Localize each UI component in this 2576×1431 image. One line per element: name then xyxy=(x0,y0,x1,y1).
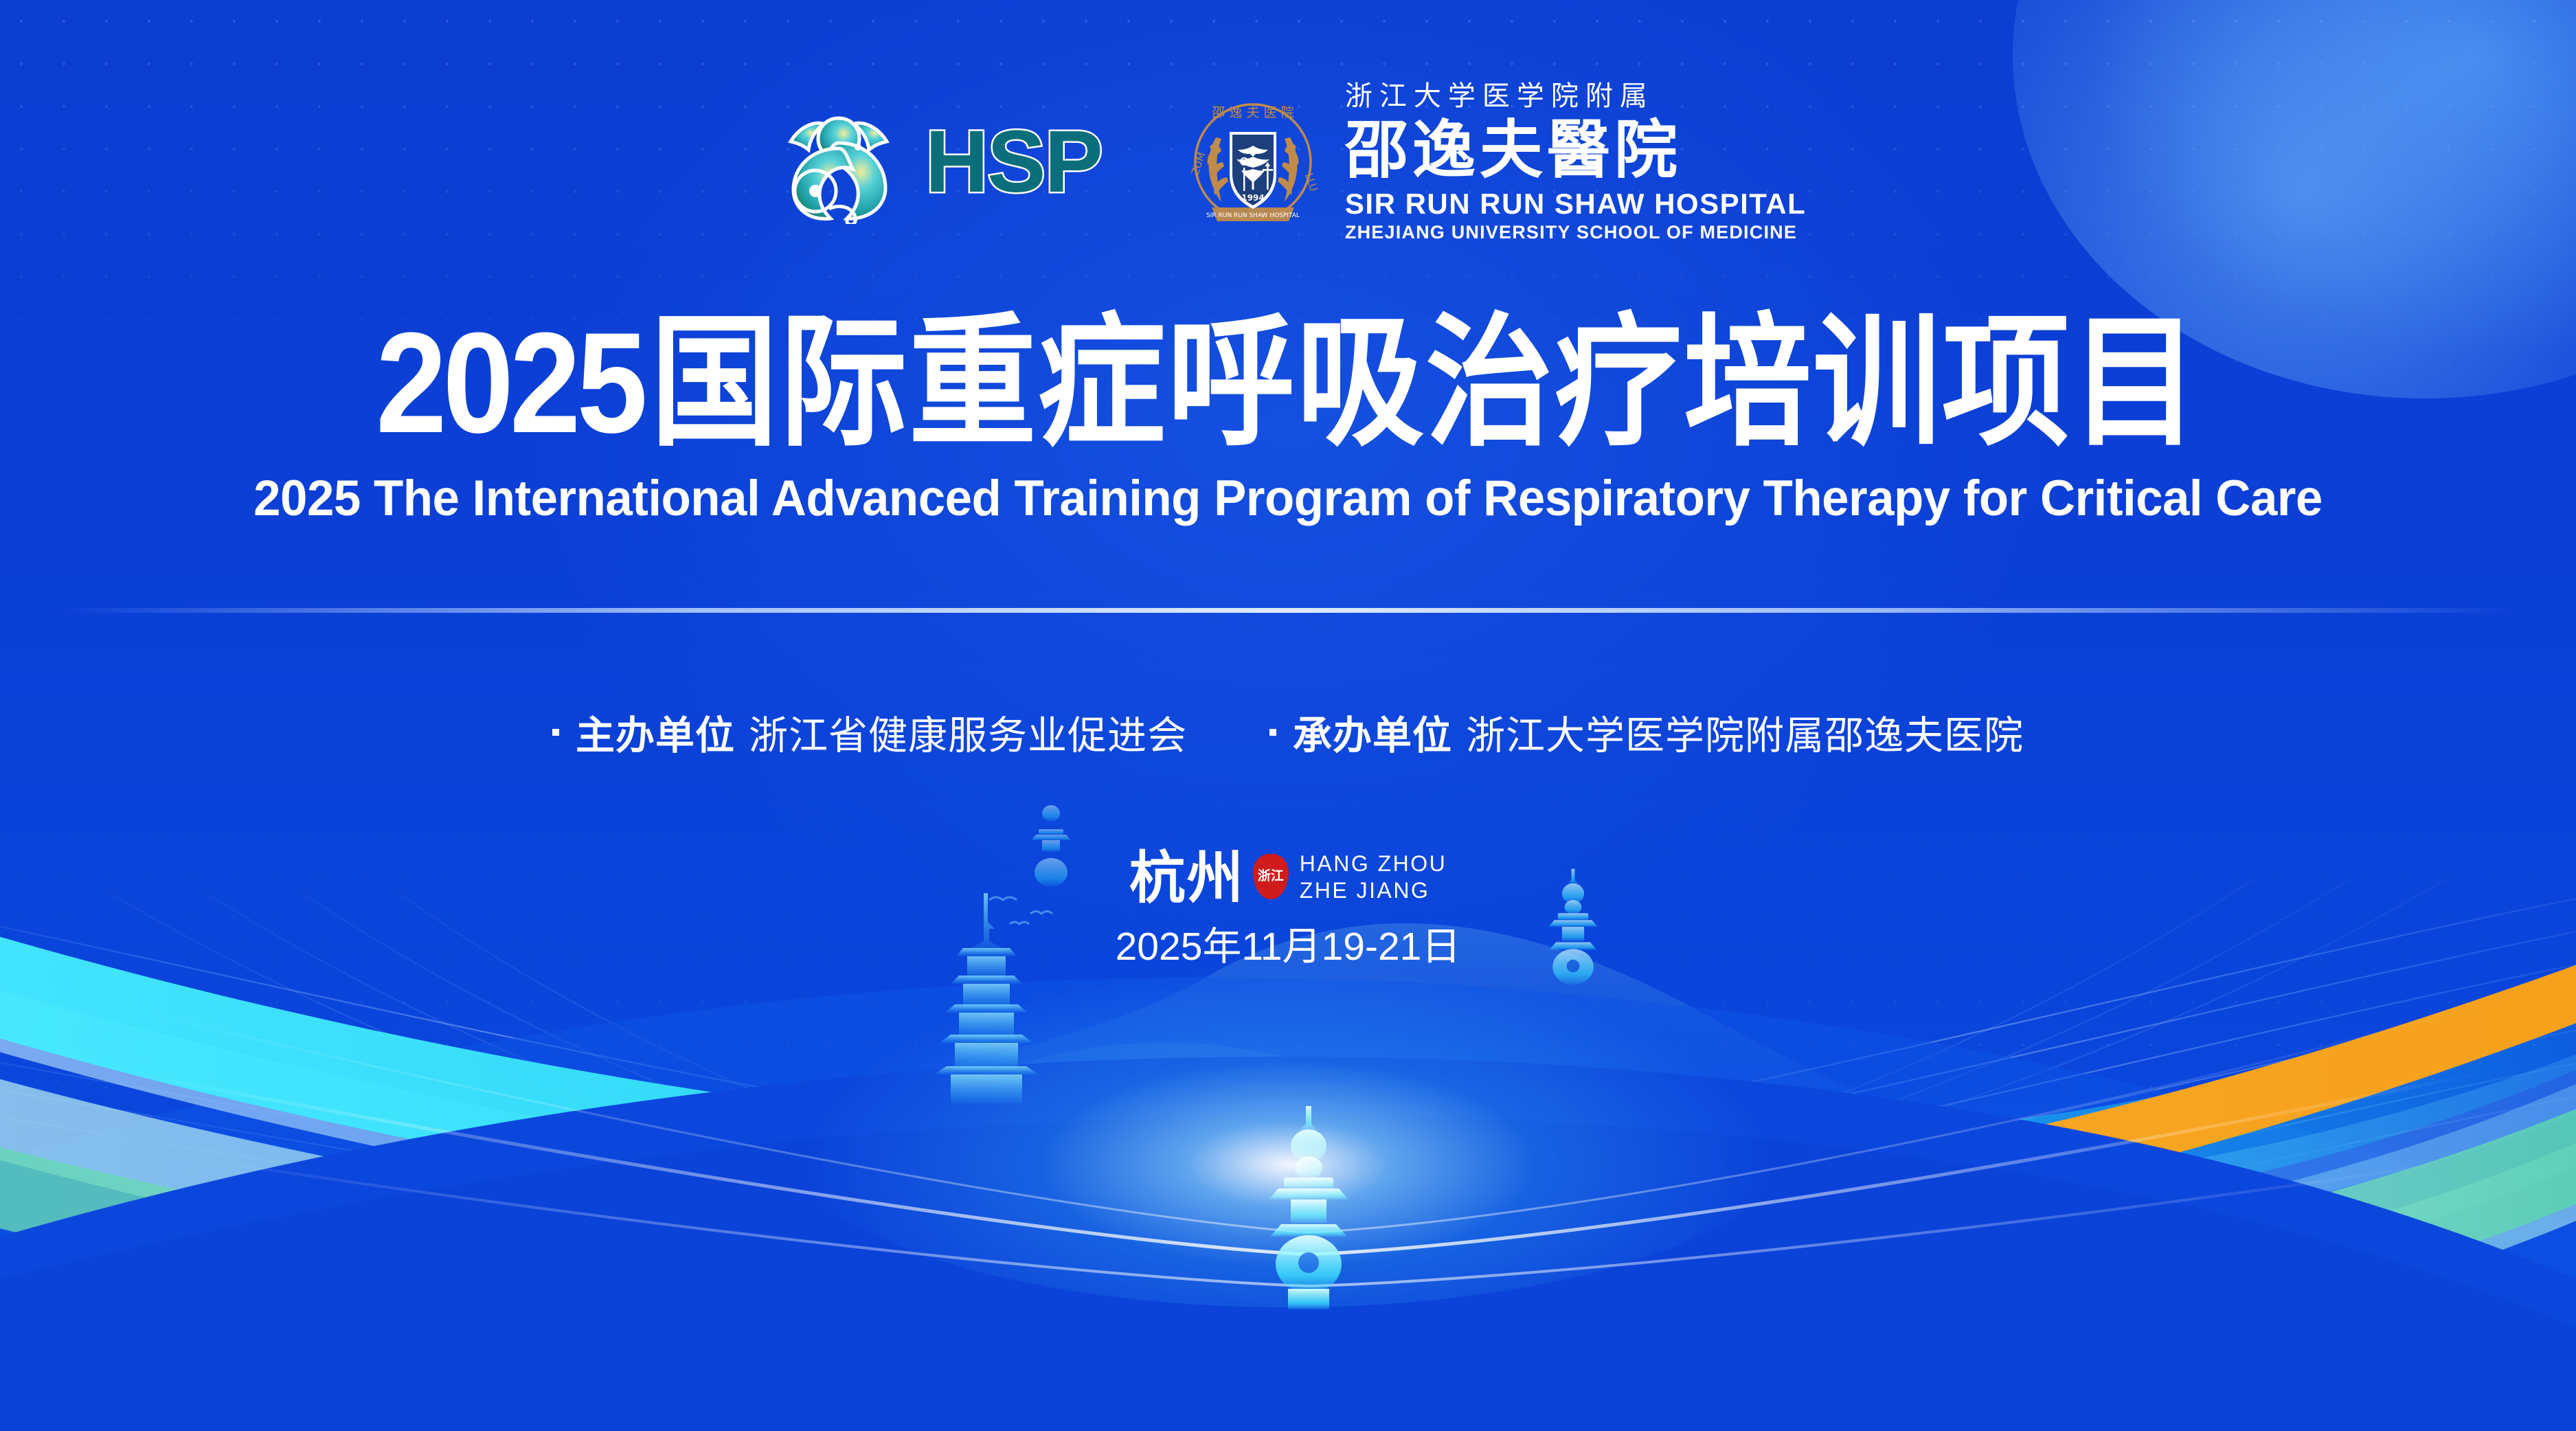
province-pinyin: ZHE JIANG xyxy=(1300,877,1447,904)
conference-banner: HSP 邵 逸 夫 医 院 ZUM LLU xyxy=(0,0,2576,1431)
hospital-name-block: 浙江大学医学院附属 邵逸夫醫院 SIR RUN RUN SHAW HOSPITA… xyxy=(1345,82,1806,242)
logo-row: HSP 邵 逸 夫 医 院 ZUM LLU xyxy=(0,82,2576,242)
hospital-logo: 邵 逸 夫 医 院 ZUM LLU SIR RUN RUN SHAW HOSPI… xyxy=(1184,82,1806,242)
hsp-emblem-icon xyxy=(770,100,907,224)
organizer-host-label: 主办单位 xyxy=(576,704,735,760)
hangzhou-mark: 杭州 浙江 HANG ZHOU ZHE JIANG xyxy=(1129,850,1447,907)
bullet-icon xyxy=(552,729,559,736)
organizer-host: 主办单位 浙江省健康服务业促进会 xyxy=(552,704,1187,760)
hospital-name-cn: 邵逸夫醫院 xyxy=(1345,118,1806,181)
event-date: 2025年11月19-21日 xyxy=(0,915,2576,971)
organizer-row: 主办单位 浙江省健康服务业促进会 承办单位 浙江大学医学院附属邵逸夫医院 xyxy=(0,704,2576,760)
svg-text:邵 逸 夫 医 院: 邵 逸 夫 医 院 xyxy=(1212,105,1293,120)
city-pinyin-block: HANG ZHOU ZHE JIANG xyxy=(1300,850,1447,904)
location-date-block: 杭州 浙江 HANG ZHOU ZHE JIANG 2025年11月19-21日 xyxy=(0,850,2576,971)
crest-year: 1994 xyxy=(1241,193,1264,203)
hospital-crest-icon: 邵 逸 夫 医 院 ZUM LLU SIR RUN RUN SHAW HOSPI… xyxy=(1184,93,1322,231)
title-year: 2025 xyxy=(376,304,644,463)
province-seal-icon: 浙江 xyxy=(1253,854,1289,899)
city-pinyin: HANG ZHOU xyxy=(1300,850,1447,877)
title-block: 2025国际重症呼吸治疗培训项目 2025 The International … xyxy=(0,311,2576,527)
organizer-host-value: 浙江省健康服务业促进会 xyxy=(749,704,1187,760)
hospital-name-en: SIR RUN RUN SHAW HOSPITAL xyxy=(1345,190,1806,218)
svg-text:LLU: LLU xyxy=(1302,172,1320,193)
hospital-school-en: ZHEJIANG UNIVERSITY SCHOOL OF MEDICINE xyxy=(1345,223,1806,242)
page-subtitle-en: 2025 The International Advanced Training… xyxy=(38,470,2538,527)
center-light-burst xyxy=(773,950,1803,1307)
organizer-co-label: 承办单位 xyxy=(1293,704,1452,760)
svg-text:ZUM: ZUM xyxy=(1189,150,1208,177)
page-title: 2025国际重症呼吸治疗培训项目 xyxy=(376,311,2200,456)
title-divider xyxy=(65,608,2511,613)
title-cn-rest: 国际重症呼吸治疗培训项目 xyxy=(651,304,2200,463)
svg-text:SIR RUN RUN SHAW HOSPITAL: SIR RUN RUN SHAW HOSPITAL xyxy=(1206,212,1300,219)
hsp-wordmark: HSP xyxy=(925,118,1102,206)
city-name-cn: 杭州 xyxy=(1129,850,1245,907)
hsp-logo: HSP xyxy=(770,100,1102,224)
bullet-icon xyxy=(1269,729,1276,736)
organizer-co: 承办单位 浙江大学医学院附属邵逸夫医院 xyxy=(1269,704,2024,760)
hospital-affiliation: 浙江大学医学院附属 xyxy=(1345,82,1806,110)
organizer-co-value: 浙江大学医学院附属邵逸夫医院 xyxy=(1466,704,2024,760)
